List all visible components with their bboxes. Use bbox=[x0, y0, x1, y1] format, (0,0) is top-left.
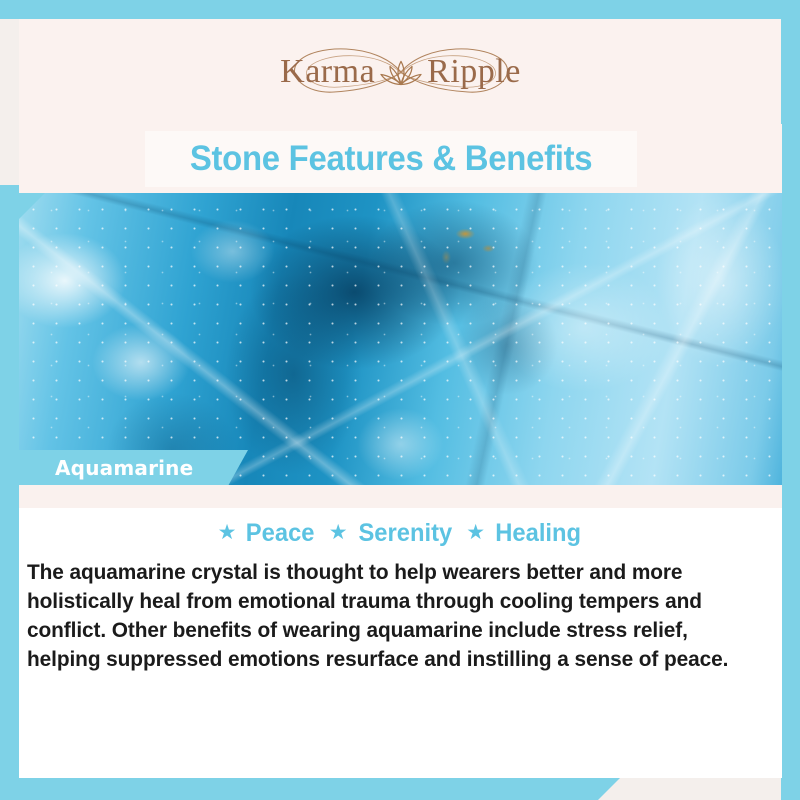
stone-name-banner: Aquamarine bbox=[19, 450, 248, 486]
lotus-flower-icon bbox=[378, 55, 424, 91]
star-icon: ★ bbox=[466, 522, 485, 543]
page-title-box: Stone Features & Benefits bbox=[145, 131, 637, 187]
infographic-card: Karma Ripple Stone Features & Benefits bbox=[0, 0, 800, 800]
brand-word-left: Karma bbox=[280, 55, 375, 89]
frame-band-bottom bbox=[0, 778, 620, 800]
frame-band-right bbox=[781, 0, 800, 800]
star-icon: ★ bbox=[218, 522, 237, 543]
keyword-label: Serenity bbox=[358, 519, 452, 548]
page-title: Stone Features & Benefits bbox=[190, 139, 592, 179]
keyword-label: Healing bbox=[495, 519, 581, 548]
frame-band-top bbox=[0, 0, 800, 19]
star-icon: ★ bbox=[329, 522, 348, 543]
brand-word-right: Ripple bbox=[427, 55, 521, 89]
hero-image bbox=[19, 193, 782, 485]
keyword-item-peace: ★ Peace bbox=[218, 519, 317, 548]
keyword-label: Peace bbox=[246, 519, 315, 548]
keyword-item-healing: ★ Healing bbox=[466, 519, 583, 548]
brand-logo: Karma Ripple bbox=[19, 19, 782, 124]
keyword-item-serenity: ★ Serenity bbox=[329, 519, 455, 548]
brand-logo-wrap: Karma Ripple bbox=[236, 40, 566, 104]
hero-sparkle-layer bbox=[19, 193, 782, 485]
frame-band-left bbox=[0, 185, 19, 800]
stone-description: The aquamarine crystal is thought to hel… bbox=[27, 558, 753, 674]
keyword-row: ★ Peace ★ Serenity ★ Healing bbox=[19, 513, 782, 553]
stone-name-label: Aquamarine bbox=[55, 456, 193, 480]
